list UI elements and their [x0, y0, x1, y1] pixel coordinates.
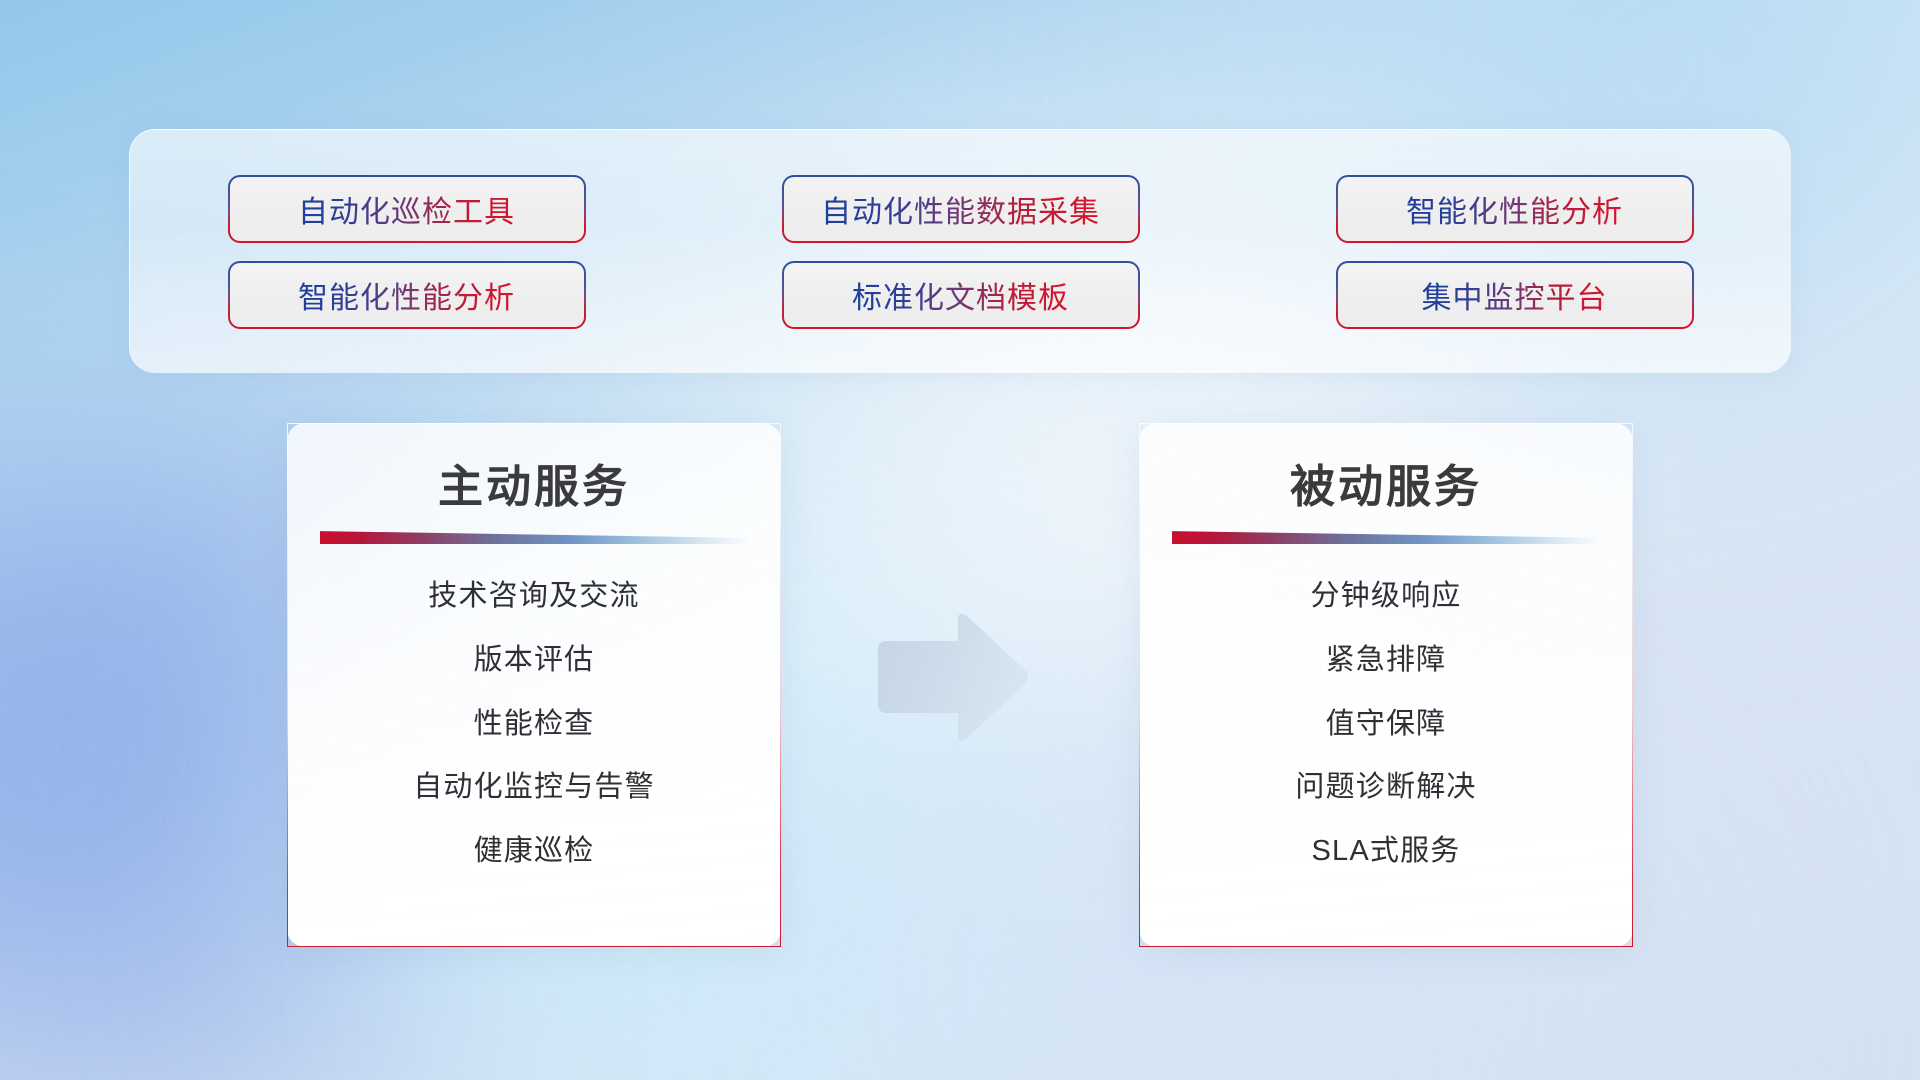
service-list-item: 分钟级响应: [1310, 579, 1461, 614]
capability-pill-intelligent-performance-analysis-top[interactable]: 智能化性能分析: [1336, 175, 1694, 243]
capability-pill-centralized-monitoring-platform[interactable]: 集中监控平台: [1336, 261, 1694, 329]
capability-pill-label: 自动化性能数据采集: [821, 187, 1100, 231]
capability-pill-automated-performance-data-collection[interactable]: 自动化性能数据采集: [782, 175, 1140, 243]
capability-panel: 自动化巡检工具 自动化性能数据采集 智能化性能分析 智能化性能分析 标准化文档模…: [129, 129, 1791, 373]
service-card-proactive: 主动服务 技术咨询及交流 版本评估 性能检查 自动化监控与告警 健康巡检: [287, 423, 781, 947]
service-card-reactive: 被动服务 分钟级响应 紧急排障 值守保障 问题诊断解决 SLA式服务: [1139, 423, 1633, 947]
service-card-body: 主动服务 技术咨询及交流 版本评估 性能检查 自动化监控与告警 健康巡检: [288, 424, 780, 946]
capability-pill-label: 自动化巡检工具: [298, 187, 515, 231]
capability-row-1: 自动化巡检工具 自动化性能数据采集 智能化性能分析: [228, 175, 1694, 243]
title-divider: [320, 531, 748, 544]
service-list-item: 健康巡检: [474, 834, 595, 869]
title-divider-bar: [320, 531, 748, 544]
service-list-item: 性能检查: [474, 707, 595, 742]
capability-pill-automated-inspection-tool[interactable]: 自动化巡检工具: [228, 175, 586, 243]
service-list-item: 自动化监控与告警: [413, 770, 655, 805]
capability-pill-label: 标准化文档模板: [852, 273, 1069, 317]
capability-pill-intelligent-performance-analysis-bottom[interactable]: 智能化性能分析: [228, 261, 586, 329]
service-item-list: 技术咨询及交流 版本评估 性能检查 自动化监控与告警 健康巡检: [413, 579, 655, 869]
service-list-item: 版本评估: [474, 643, 595, 678]
arrow-right-icon: [872, 610, 1032, 745]
service-card-body: 被动服务 分钟级响应 紧急排障 值守保障 问题诊断解决 SLA式服务: [1140, 424, 1632, 946]
service-card-title: 被动服务: [1290, 460, 1482, 513]
arrow-right-icon-svg: [872, 610, 1032, 745]
title-divider: [1172, 531, 1600, 544]
capability-pill-label: 智能化性能分析: [1406, 187, 1623, 231]
service-list-item: 技术咨询及交流: [428, 579, 639, 614]
service-list-item: SLA式服务: [1311, 834, 1460, 869]
capability-pill-label: 集中监控平台: [1422, 273, 1608, 317]
service-list-item: 紧急排障: [1326, 643, 1447, 678]
service-list-item: 问题诊断解决: [1295, 770, 1476, 805]
capability-pill-label: 智能化性能分析: [298, 273, 515, 317]
title-divider-bar: [1172, 531, 1600, 544]
service-item-list: 分钟级响应 紧急排障 值守保障 问题诊断解决 SLA式服务: [1295, 579, 1476, 869]
service-list-item: 值守保障: [1326, 707, 1447, 742]
capability-row-2: 智能化性能分析 标准化文档模板 集中监控平台: [228, 261, 1694, 329]
service-card-title: 主动服务: [438, 460, 630, 513]
capability-pill-standardized-doc-template[interactable]: 标准化文档模板: [782, 261, 1140, 329]
